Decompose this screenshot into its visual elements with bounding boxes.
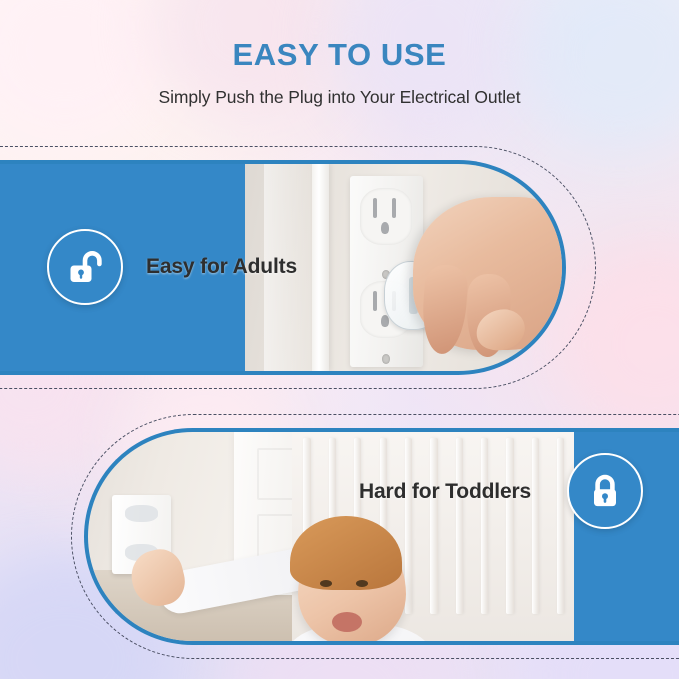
panel-easy-for-adults: Easy for Adults [0, 160, 600, 375]
page-title: EASY TO USE [0, 38, 679, 72]
crib-bar [405, 438, 412, 614]
panel-caption-hard-for-toddlers: Hard for Toddlers [359, 480, 531, 504]
crib-bar [532, 438, 539, 614]
photo-toddler-reaching-for-outlet [88, 432, 574, 641]
outlet-plug-cover [125, 505, 158, 522]
outlet-socket-top [360, 188, 412, 245]
toddler-eye [356, 580, 368, 587]
door-frame [312, 164, 329, 371]
socket-slot [373, 291, 377, 310]
toddler-mouth [332, 612, 362, 632]
plate-screw [382, 354, 390, 364]
crib-bar [506, 438, 513, 614]
crib-bar [456, 438, 463, 614]
toddler-eye [320, 580, 332, 587]
adult-hand [413, 197, 562, 350]
finger [420, 263, 469, 355]
unlock-icon [65, 247, 105, 287]
crib-bar [481, 438, 488, 614]
unlock-icon-badge [47, 229, 123, 305]
toddler-head [298, 528, 406, 641]
header: EASY TO USE Simply Push the Plug into Yo… [0, 0, 679, 108]
page-subtitle: Simply Push the Plug into Your Electrica… [0, 87, 679, 108]
lock-icon [585, 471, 625, 511]
socket-ground-hole [381, 222, 389, 233]
socket-slot [392, 198, 396, 217]
crib-bar [430, 438, 437, 614]
panel-hard-for-toddlers: Hard for Toddlers [84, 428, 679, 645]
panel-caption-easy-for-adults: Easy for Adults [146, 255, 297, 279]
lock-icon-badge [567, 453, 643, 529]
crib-bar [557, 438, 564, 614]
socket-slot [373, 198, 377, 217]
